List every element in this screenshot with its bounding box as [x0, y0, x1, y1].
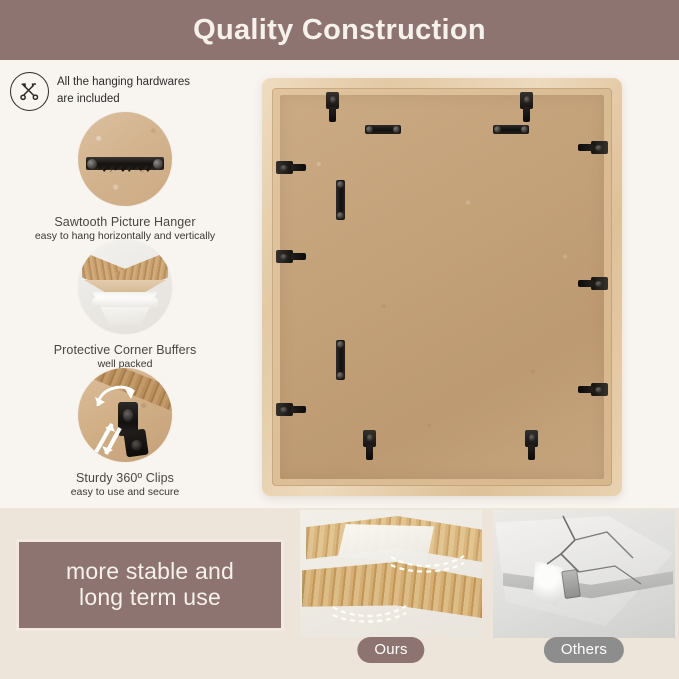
feature-subtitle: easy to use and secure: [0, 486, 250, 498]
sawtooth-hanger: [365, 125, 401, 134]
turn-clip: [363, 430, 376, 460]
picture-frame-back-view: [262, 78, 622, 496]
hanging-strip: [336, 340, 345, 380]
competitor-broken-corner-photo: [493, 510, 675, 638]
turn-clip: [276, 403, 306, 416]
crack-lines: [545, 514, 645, 604]
sawtooth-hanger: [493, 125, 529, 134]
hardware-included-note: All the hanging hardwares are included: [10, 72, 245, 111]
comparison-cell-ours: Ours: [296, 508, 486, 679]
page-title: Quality Construction: [193, 14, 486, 47]
status-badge-others: Others: [544, 637, 624, 663]
foam-edge-highlight: [92, 298, 158, 307]
promo-line-1: more stable and: [66, 559, 234, 585]
feature-corner-buffers: Protective Corner Buffers well packed: [0, 240, 250, 370]
slide-arrow-icon: [90, 418, 130, 458]
turn-clip: [525, 430, 538, 460]
feature-title: Protective Corner Buffers: [0, 343, 250, 357]
rotating-clip-photo: [78, 368, 172, 462]
feature-sawtooth-hanger: Sawtooth Picture Hanger easy to hang hor…: [0, 112, 250, 242]
turn-clip: [578, 277, 608, 290]
turn-clip: [520, 92, 533, 122]
features-column: All the hanging hardwares are included S…: [0, 60, 250, 508]
turn-clip: [578, 141, 608, 154]
comparison-panel: Ours Others: [296, 508, 679, 679]
status-badge-ours: Ours: [357, 637, 424, 663]
turn-clip: [276, 250, 306, 263]
feature-title: Sawtooth Picture Hanger: [0, 215, 250, 229]
highlight-dashed-outline: [330, 602, 410, 624]
header-banner: Quality Construction: [0, 0, 679, 60]
corner-buffer-photo: [78, 240, 172, 334]
rotation-arrow-icon: [94, 380, 138, 412]
turn-clip: [326, 92, 339, 122]
feature-rotating-clips: Sturdy 360º Clips easy to use and secure: [0, 368, 250, 498]
sawtooth-hardware: [86, 157, 164, 170]
main-content: All the hanging hardwares are included S…: [0, 60, 679, 508]
sawtooth-hanger-photo: [78, 112, 172, 206]
promo-banner: more stable and long term use: [16, 539, 284, 631]
our-solid-oak-corner-photo: [300, 510, 482, 638]
mdf-backing-board: [280, 95, 604, 479]
bottom-section: more stable and long term use: [0, 508, 679, 679]
feature-title: Sturdy 360º Clips: [0, 471, 250, 485]
turn-clip: [276, 161, 306, 174]
infographic-page: Quality Construction All the ha: [0, 0, 679, 679]
tools-icon: [10, 72, 49, 111]
promo-line-2: long term use: [79, 585, 221, 611]
hardware-note-line2: are included: [57, 91, 190, 108]
hardware-included-text: All the hanging hardwares are included: [57, 72, 190, 107]
hanging-strip: [336, 180, 345, 220]
hardware-note-line1: All the hanging hardwares: [57, 74, 190, 91]
comparison-cell-others: Others: [489, 508, 679, 679]
highlight-dashed-outline: [388, 552, 468, 574]
turn-clip: [578, 383, 608, 396]
